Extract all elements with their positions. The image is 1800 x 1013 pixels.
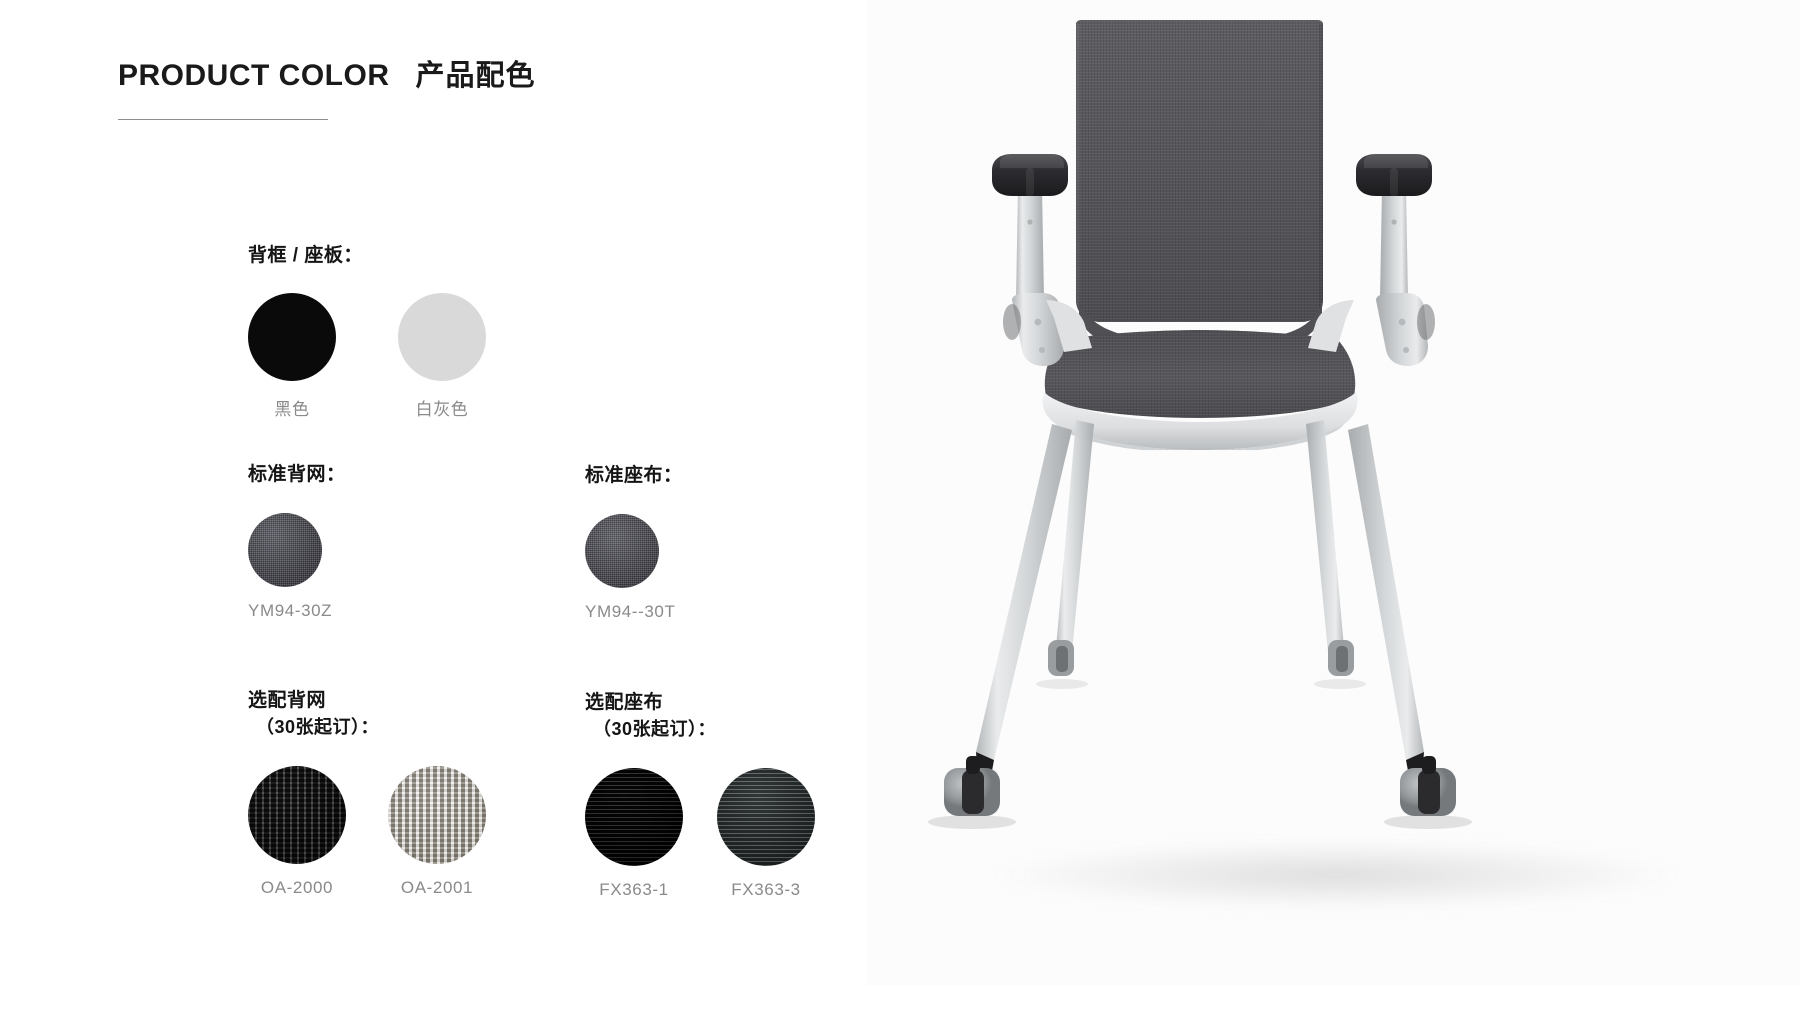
swatch-chip-list: FX363-1 FX363-3	[585, 768, 815, 900]
swatch-chip-list: 黑色 白灰色	[248, 293, 486, 420]
swatch-label-fx363-3: FX363-3	[717, 880, 815, 900]
swatch-group-standard-back-mesh: 标准背网： YM94-30Z	[248, 462, 346, 621]
swatch-dot-white-grey[interactable]	[398, 293, 486, 381]
swatch-dot-black[interactable]	[248, 293, 336, 381]
swatch-label-oa-2000: OA-2000	[248, 878, 346, 898]
caster-rear-left	[1048, 640, 1074, 676]
swatch-chip-oa-2000[interactable]: OA-2000	[248, 766, 346, 898]
swatch-dot-fx363-1[interactable]	[585, 768, 683, 866]
swatch-chip-fx363-1[interactable]: FX363-1	[585, 768, 683, 900]
swatch-group-frame-seatboard: 背框 / 座板： 黑色 白灰色	[248, 243, 486, 420]
group-heading-subnote: （30张起订）：	[248, 715, 486, 741]
swatch-chip-oa-2001[interactable]: OA-2001	[388, 766, 486, 898]
swatch-dot-fx363-3[interactable]	[717, 768, 815, 866]
swatch-dot-ym94-30z[interactable]	[248, 513, 322, 587]
group-heading: 选配座布 （30张起订）：	[585, 690, 815, 743]
group-heading-main: 选配背网	[248, 690, 326, 711]
group-heading: 选配背网 （30张起订）：	[248, 688, 486, 741]
swatch-label-fx363-1: FX363-1	[585, 880, 683, 900]
swatch-dot-ym94-30t[interactable]	[585, 514, 659, 588]
color-swatch-area: 背框 / 座板： 黑色 白灰色 标准背网： YM94-30Z	[0, 0, 880, 1013]
swatch-label-black: 黑色	[248, 395, 336, 420]
swatch-chip-list: OA-2000 OA-2001	[248, 766, 486, 898]
group-heading: 背框 / 座板：	[248, 243, 486, 270]
swatch-chip-list: YM94-30Z	[248, 513, 346, 621]
swatch-chip-black[interactable]: 黑色	[248, 293, 336, 420]
swatch-label-ym94-30t: YM94--30T	[585, 602, 675, 622]
swatch-group-optional-seat-fabric: 选配座布 （30张起订）： FX363-1 FX363-3	[585, 690, 815, 900]
group-heading-subnote: （30张起订）：	[585, 717, 815, 743]
swatch-dot-oa-2001[interactable]	[388, 766, 486, 864]
group-heading: 标准背网：	[248, 462, 346, 489]
swatch-group-standard-seat-fabric: 标准座布： YM94--30T	[585, 463, 683, 622]
product-color-page: PRODUCT COLOR 产品配色 背框 / 座板： 黑色 白灰色 标准背网：	[0, 0, 1800, 1013]
swatch-chip-ym94-30t[interactable]: YM94--30T	[585, 514, 675, 622]
swatch-dot-oa-2000[interactable]	[248, 766, 346, 864]
swatch-chip-ym94-30z[interactable]: YM94-30Z	[248, 513, 332, 621]
caster-rear-right	[1328, 640, 1354, 676]
swatch-group-optional-back-mesh: 选配背网 （30张起订）： OA-2000 OA-2001	[248, 688, 486, 898]
product-photo-panel	[866, 0, 1800, 985]
swatch-label-oa-2001: OA-2001	[388, 878, 486, 898]
group-heading: 标准座布：	[585, 463, 683, 490]
swatch-chip-fx363-3[interactable]: FX363-3	[717, 768, 815, 900]
office-chair-image	[866, 0, 1800, 985]
swatch-label-white-grey: 白灰色	[398, 395, 486, 420]
swatch-chip-list: YM94--30T	[585, 514, 683, 622]
swatch-chip-white-grey[interactable]: 白灰色	[398, 293, 486, 420]
group-heading-main: 选配座布	[585, 692, 663, 713]
swatch-label-ym94-30z: YM94-30Z	[248, 601, 332, 621]
